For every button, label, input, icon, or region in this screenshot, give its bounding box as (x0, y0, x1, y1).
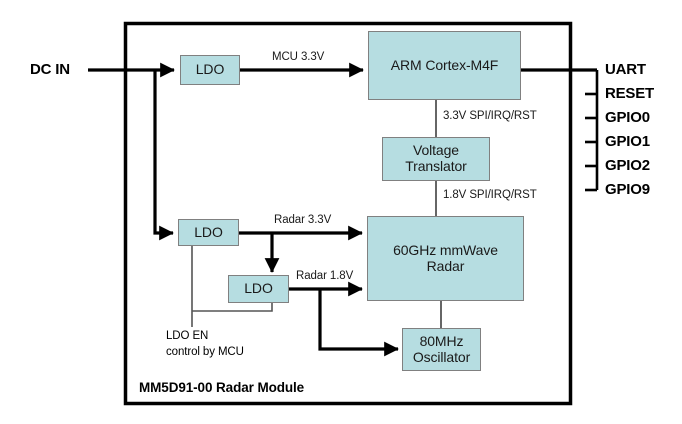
block-ldo-radar-1v8-label: LDO (229, 281, 288, 297)
io-label-reset: RESET (605, 85, 654, 102)
module-title: MM5D91-00 Radar Module (139, 380, 304, 395)
block-60ghz-mmwave-radar-label-line2: Radar (368, 259, 523, 275)
wire-label-spi-1v8: 1.8V SPI/IRQ/RST (443, 189, 537, 201)
wire-dcin-branch-to-ldo-radar (155, 70, 173, 233)
block-80mhz-oscillator-label-line2: Oscillator (403, 350, 480, 366)
block-ldo-radar-3v3[interactable]: LDO (178, 219, 239, 246)
block-60ghz-mmwave-radar-label-line1: 60GHz mmWave (368, 243, 523, 259)
block-ldo-radar-3v3-label: LDO (179, 225, 238, 241)
io-label-gpio2: GPIO2 (605, 157, 650, 174)
block-arm-cortex-m4f-label: ARM Cortex-M4F (369, 58, 520, 74)
input-label-dc-in: DC IN (30, 61, 70, 78)
block-ldo-radar-1v8[interactable]: LDO (228, 275, 289, 303)
wire-label-spi-3v3: 3.3V SPI/IRQ/RST (443, 110, 537, 122)
block-voltage-translator[interactable]: Voltage Translator (382, 137, 490, 181)
io-label-gpio0: GPIO0 (605, 109, 650, 126)
io-label-uart: UART (605, 61, 646, 78)
block-arm-cortex-m4f[interactable]: ARM Cortex-M4F (368, 31, 521, 100)
block-diagram-canvas: LDO ARM Cortex-M4F Voltage Translator LD… (0, 0, 682, 424)
block-80mhz-oscillator-label-line1: 80MHz (403, 334, 480, 350)
block-80mhz-oscillator[interactable]: 80MHz Oscillator (402, 328, 481, 371)
io-label-gpio1: GPIO1 (605, 133, 650, 150)
block-60ghz-mmwave-radar[interactable]: 60GHz mmWave Radar (367, 216, 524, 301)
block-voltage-translator-label-line1: Voltage (383, 143, 489, 159)
wiring-layer (0, 0, 682, 424)
note-ldo-en-line1: LDO EN (166, 329, 208, 345)
note-ldo-en-line2: control by MCU (166, 345, 244, 361)
wire-label-mcu-3v3: MCU 3.3V (272, 51, 324, 63)
block-voltage-translator-label-line2: Translator (383, 159, 489, 175)
block-ldo-mcu-label: LDO (181, 62, 239, 78)
block-ldo-mcu[interactable]: LDO (180, 55, 240, 85)
wire-label-radar-1v8: Radar 1.8V (296, 270, 353, 282)
io-label-gpio9: GPIO9 (605, 181, 650, 198)
wire-label-radar-3v3: Radar 3.3V (274, 214, 331, 226)
